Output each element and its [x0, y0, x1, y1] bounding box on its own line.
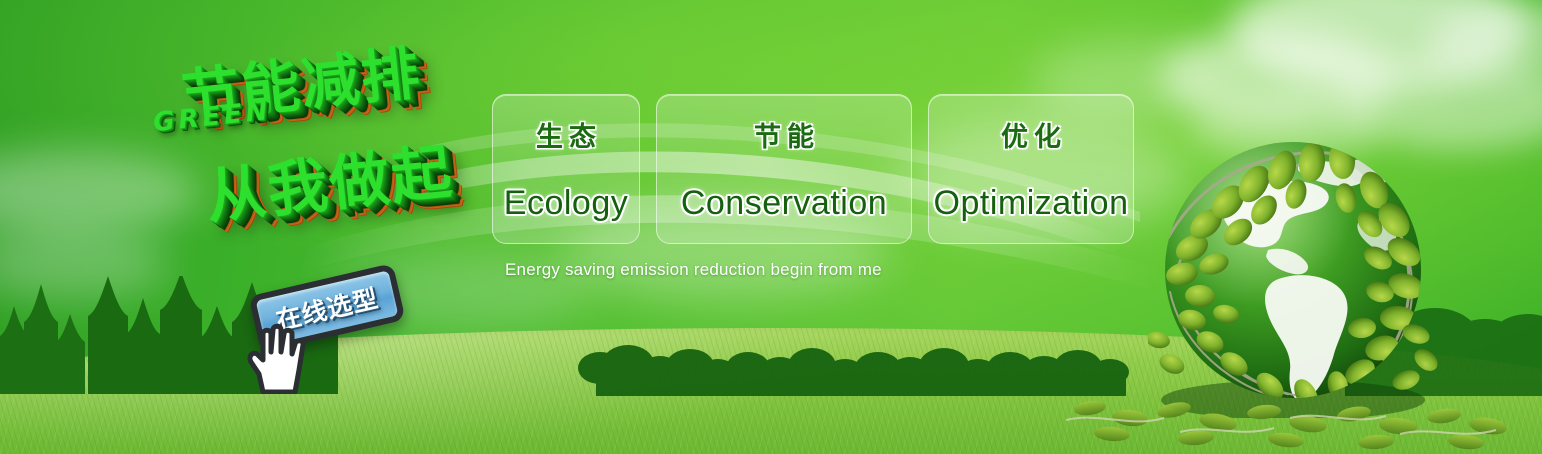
feature-card-list: 生态 Ecology 节能 Conservation 优化 Optimizati…: [492, 94, 1134, 244]
feature-card-en-label: Conservation: [681, 184, 887, 223]
feature-card-conservation[interactable]: 节能 Conservation: [656, 94, 912, 244]
feature-card-cn-label: 节能: [748, 115, 820, 154]
feature-card-cn-label: 优化: [995, 115, 1067, 154]
cloud-icon: [1430, 0, 1542, 80]
feature-card-en-label: Ecology: [504, 184, 628, 223]
cloud-icon: [1160, 30, 1390, 125]
feature-card-en-label: Optimization: [934, 184, 1129, 223]
feature-card-cn-label: 生态: [530, 115, 602, 154]
tagline: Energy saving emission reduction begin f…: [505, 260, 882, 280]
feature-card-optimization[interactable]: 优化 Optimization: [928, 94, 1134, 244]
online-selection-label: 在线选型: [272, 279, 381, 337]
feature-card-ecology[interactable]: 生态 Ecology: [492, 94, 640, 244]
leaf-litter: [1060, 368, 1542, 454]
cloud-icon: [1230, 0, 1530, 90]
eco-promo-banner: 节能减排 GREEN 从我做起 在线选型 生态 Ecology 节能 Conse…: [0, 0, 1542, 454]
headline-3d: 节能减排 GREEN 从我做起: [95, 38, 495, 288]
